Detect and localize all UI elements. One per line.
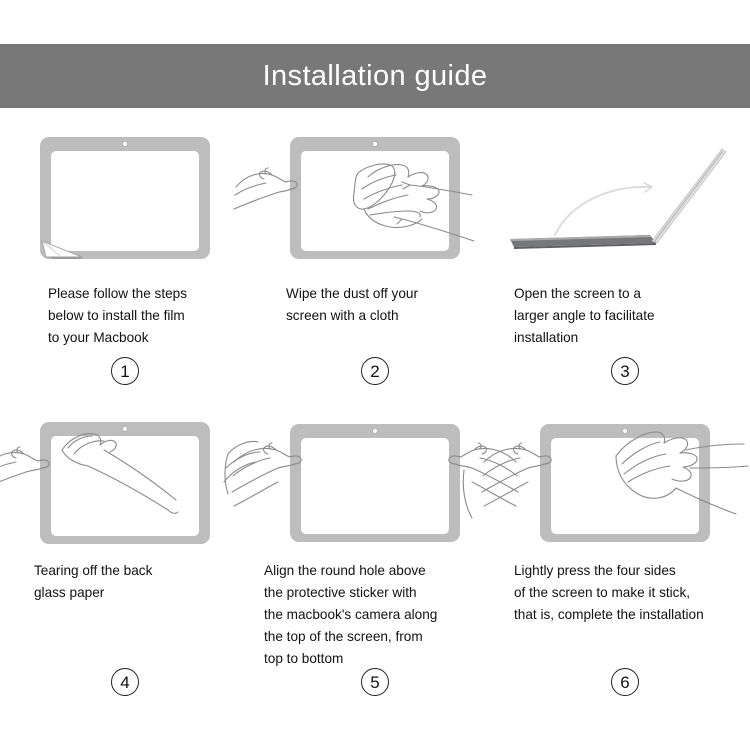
step-number: 6 [611, 668, 639, 696]
step-caption: Tearing off the back glass paper [0, 560, 250, 604]
header-banner: Installation guide [0, 44, 750, 108]
illustration-hands-pressing-screen-edges [500, 410, 750, 550]
step-panel-2: Wipe the dust off your screen with a clo… [250, 125, 500, 410]
step-number-badge: 3 [500, 357, 750, 385]
step-panel-5: Align the round hole above the protectiv… [250, 410, 500, 695]
step-panel-1: Please follow the steps below to install… [0, 125, 250, 410]
step-caption: Align the round hole above the protectiv… [250, 560, 500, 670]
page-title: Installation guide [263, 62, 488, 91]
step-panel-3: Open the screen to a larger angle to fac… [500, 125, 750, 410]
illustration-laptop-side-view-open-lid [500, 125, 750, 265]
step-number: 5 [361, 668, 389, 696]
step-number-badge: 2 [250, 357, 500, 385]
step-caption: Wipe the dust off your screen with a clo… [250, 283, 500, 327]
step-caption: Lightly press the four sides of the scre… [500, 560, 750, 626]
illustration-hands-tearing-back-paper [0, 410, 250, 550]
installation-guide-page: Installation guide Please follo [0, 0, 750, 750]
step-panel-6: Lightly press the four sides of the scre… [500, 410, 750, 695]
steps-grid: Please follow the steps below to install… [0, 125, 750, 725]
step-number: 3 [611, 357, 639, 385]
step-number: 2 [361, 357, 389, 385]
step-number-badge: 6 [500, 668, 750, 696]
illustration-hand-wiping-screen-with-cloth [250, 125, 500, 265]
step-number-badge: 1 [0, 357, 250, 385]
step-panel-4: Tearing off the back glass paper 4 [0, 410, 250, 695]
step-caption: Please follow the steps below to install… [0, 283, 250, 349]
step-caption: Open the screen to a larger angle to fac… [500, 283, 750, 349]
illustration-screen-with-peeling-corner [0, 125, 250, 265]
step-number: 1 [111, 357, 139, 385]
step-number-badge: 4 [0, 668, 250, 696]
step-number-badge: 5 [250, 668, 500, 696]
illustration-two-hands-aligning-film [250, 410, 500, 550]
step-number: 4 [111, 668, 139, 696]
